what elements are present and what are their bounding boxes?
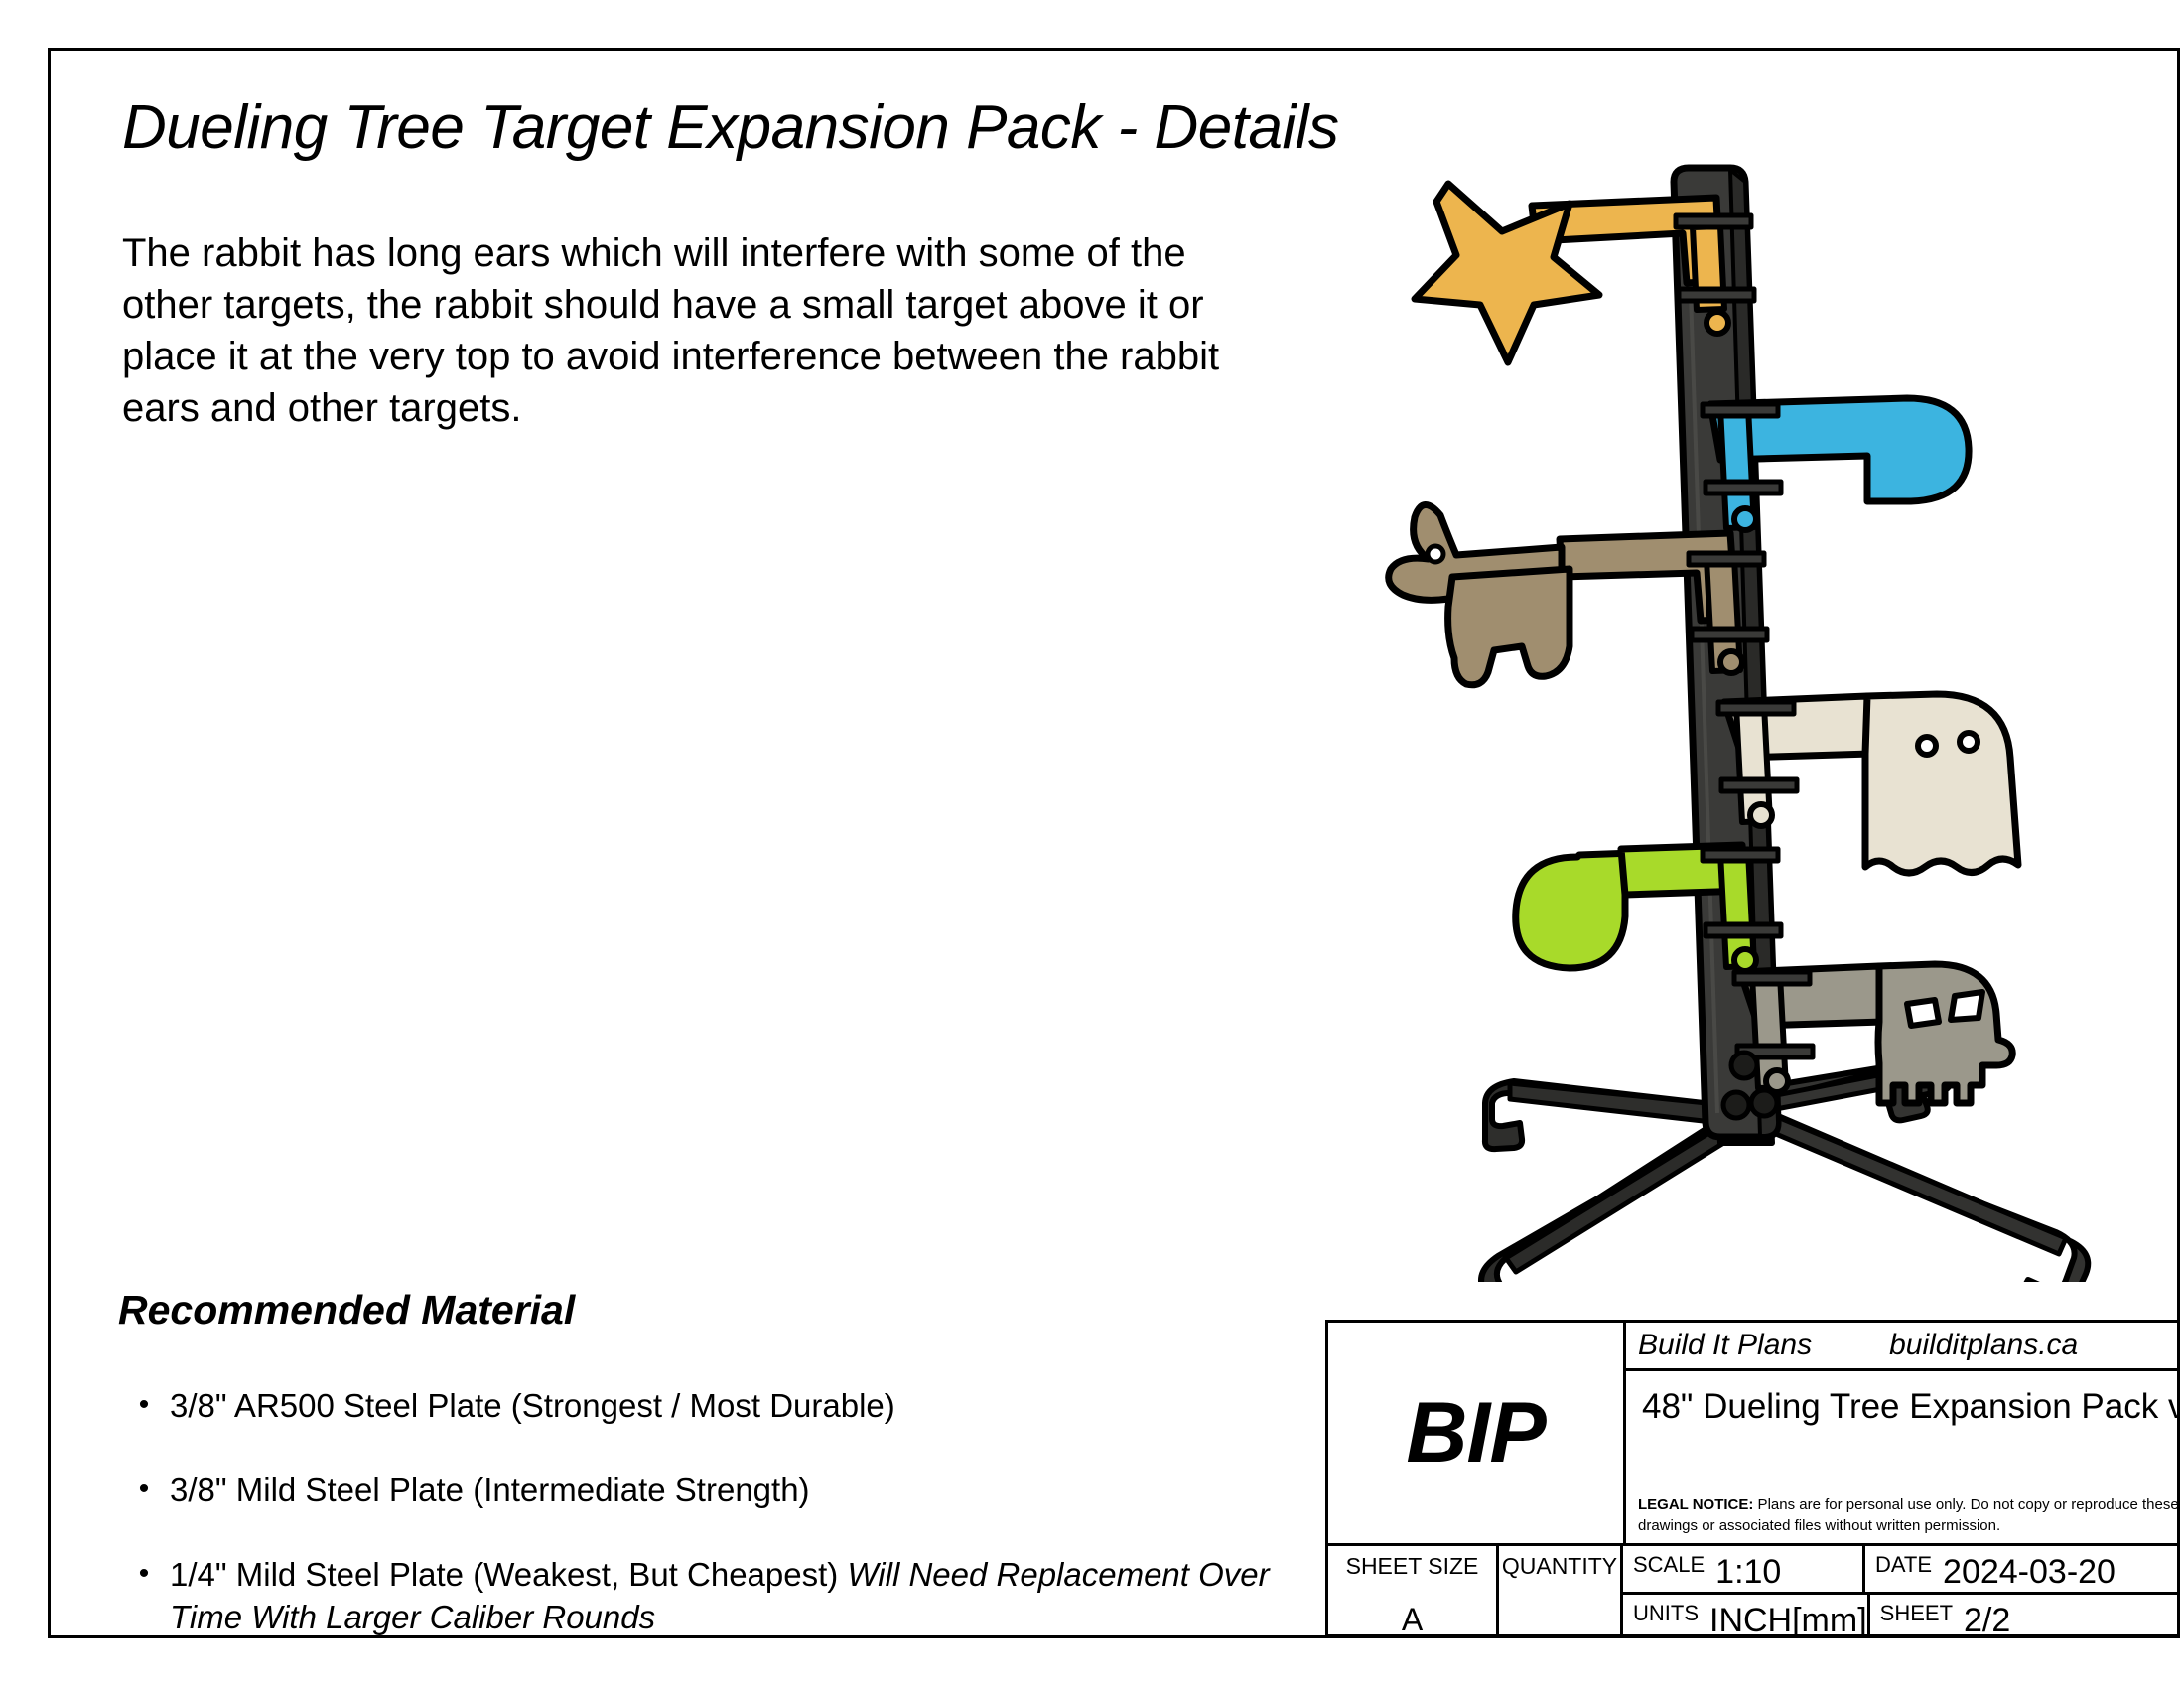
rabbit-eye	[1428, 546, 1443, 562]
date-label: DATE	[1875, 1546, 1932, 1578]
green-paddle-target	[1516, 845, 1781, 971]
units-label: UNITS	[1633, 1595, 1699, 1626]
drawing-sheet: Dueling Tree Target Expansion Pack - Det…	[48, 48, 2180, 1638]
bip-logo: BIP	[1406, 1384, 1545, 1482]
material-list-item: • 3/8" Mild Steel Plate (Intermediate St…	[118, 1470, 1290, 1512]
quantity-label: QUANTITY	[1499, 1546, 1620, 1580]
skull-eye-left	[1907, 1000, 1939, 1026]
company-row: Build It Plans builditplans.ca	[1626, 1323, 2180, 1371]
material-list-item: • 3/8" AR500 Steel Plate (Strongest / Mo…	[118, 1385, 1290, 1428]
company-website[interactable]: builditplans.ca	[1889, 1329, 2078, 1362]
intro-note-text: The rabbit has long ears which will inte…	[122, 227, 1224, 434]
bracket-bottom	[1679, 289, 1754, 301]
blue-paddle-target	[1703, 398, 1969, 530]
units-field: UNITS INCH[mm]	[1623, 1595, 1870, 1638]
page-title: Dueling Tree Target Expansion Pack - Det…	[122, 92, 1339, 163]
date-value: 2024-03-20	[1932, 1546, 2116, 1592]
quantity-value	[1499, 1580, 1620, 1602]
title-block: BIP Build It Plans builditplans.ca 48" D…	[1325, 1320, 2180, 1637]
scale-value: 1:10	[1705, 1546, 1781, 1592]
drawing-title-cell: 48" Dueling Tree Expansion Pack v LEGAL …	[1626, 1371, 2180, 1543]
sheet-size-value: A	[1328, 1580, 1496, 1638]
target-stand-illustration	[1272, 110, 2180, 1282]
sheet-field: SHEET 2/2	[1870, 1595, 2180, 1638]
material-item-text: 3/8" AR500 Steel Plate (Strongest / Most…	[170, 1385, 1290, 1428]
pivot-pin	[1750, 804, 1772, 826]
material-item-text: 1/4" Mild Steel Plate (Weakest, But Chea…	[170, 1554, 1290, 1638]
scale-date-row: SCALE 1:10 DATE 2024-03-20	[1623, 1546, 2180, 1595]
scale-label: SCALE	[1633, 1546, 1705, 1578]
legal-notice: LEGAL NOTICE: Plans are for personal use…	[1638, 1494, 2180, 1538]
recommended-material-section: Recommended Material • 3/8" AR500 Steel …	[118, 1287, 1290, 1638]
pivot-pin	[1706, 312, 1728, 334]
legal-notice-label: LEGAL NOTICE:	[1638, 1496, 1753, 1513]
title-block-fields: SCALE 1:10 DATE 2024-03-20 UNITS INCH[mm…	[1623, 1546, 2180, 1638]
units-value: INCH[mm]	[1699, 1595, 1867, 1638]
sheet-label: SHEET	[1880, 1595, 1953, 1626]
ghost-eye-left	[1918, 737, 1936, 755]
pivot-pin	[1734, 508, 1756, 530]
scale-field: SCALE 1:10	[1623, 1546, 1865, 1592]
rabbit-target	[1389, 504, 1767, 684]
quantity-cell: QUANTITY	[1499, 1546, 1623, 1638]
units-sheet-row: UNITS INCH[mm] SHEET 2/2	[1623, 1595, 2180, 1638]
skull-eye-right	[1951, 992, 1982, 1020]
bullet-icon: •	[118, 1385, 170, 1424]
sheet-size-label: SHEET SIZE	[1328, 1546, 1496, 1580]
drawing-title: 48" Dueling Tree Expansion Pack v	[1626, 1371, 2180, 1427]
ghost-eye-right	[1960, 733, 1978, 751]
material-item-text: 3/8" Mild Steel Plate (Intermediate Stre…	[170, 1470, 1290, 1512]
title-block-upper: BIP Build It Plans builditplans.ca 48" D…	[1328, 1323, 2180, 1546]
title-block-upper-right: Build It Plans builditplans.ca 48" Dueli…	[1626, 1323, 2180, 1543]
bullet-icon: •	[118, 1470, 170, 1508]
material-heading: Recommended Material	[118, 1287, 1290, 1334]
material-item-main: 1/4" Mild Steel Plate (Weakest, But Chea…	[170, 1556, 847, 1593]
logo-cell: BIP	[1328, 1323, 1626, 1543]
sheet-value: 2/2	[1953, 1595, 2010, 1638]
bracket-top	[1676, 215, 1751, 227]
pivot-pin	[1734, 949, 1756, 971]
pivot-pin	[1720, 651, 1742, 673]
bullet-icon: •	[118, 1554, 170, 1593]
company-name: Build It Plans	[1638, 1329, 1812, 1362]
title-block-lower: SHEET SIZE A QUANTITY SCALE 1:10 DATE 20…	[1328, 1546, 2180, 1638]
date-field: DATE 2024-03-20	[1865, 1546, 2180, 1592]
material-list-item: • 1/4" Mild Steel Plate (Weakest, But Ch…	[118, 1554, 1290, 1638]
sheet-size-cell: SHEET SIZE A	[1328, 1546, 1499, 1638]
